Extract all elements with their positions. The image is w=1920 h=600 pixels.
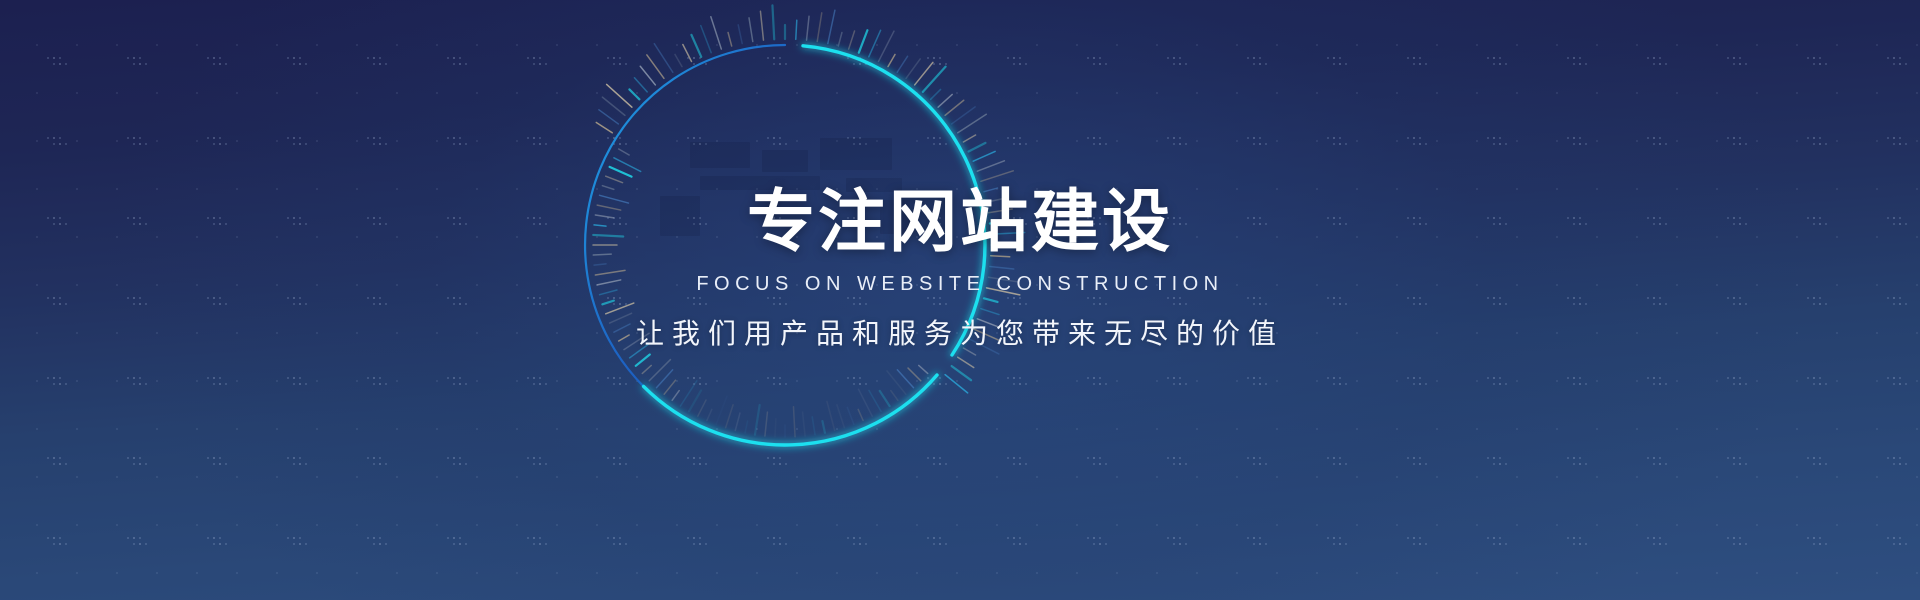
- ring-tick: [822, 421, 825, 433]
- ring-tick: [945, 100, 964, 115]
- ring-tick: [915, 62, 933, 85]
- ring-tick: [755, 405, 760, 435]
- ring-tick: [817, 13, 822, 42]
- ring-tick: [837, 405, 844, 428]
- ring-tick: [683, 45, 692, 62]
- subtitle-chinese: 让我们用产品和服务为您带来无尽的价值: [0, 317, 1920, 351]
- ring-tick: [858, 409, 863, 420]
- hero-banner: 专注网站建设 FOCUS ON WEBSITE CONSTRUCTION 让我们…: [0, 0, 1920, 600]
- ring-tick: [897, 370, 913, 388]
- ring-tick: [749, 18, 753, 42]
- ring-tick: [596, 122, 612, 132]
- ring-tick: [923, 67, 946, 92]
- ring-tick: [698, 400, 706, 416]
- ring-tick: [711, 17, 722, 49]
- ring-tick: [891, 391, 898, 401]
- ring-tick: [647, 55, 664, 78]
- ring-tick: [897, 56, 907, 72]
- ring-tick: [931, 89, 941, 99]
- ring-tick: [847, 407, 853, 424]
- ring-tick: [599, 110, 618, 124]
- ring-tick: [657, 370, 673, 388]
- ring-tick: [735, 413, 740, 430]
- ring-tick: [689, 390, 701, 411]
- ring-tick: [691, 35, 701, 57]
- ring-tick: [827, 401, 835, 430]
- ring-tick: [981, 171, 1013, 182]
- ring-tick: [952, 366, 971, 380]
- ring-tick: [607, 84, 632, 107]
- ring-tick: [726, 405, 733, 428]
- ring-tick: [887, 371, 906, 394]
- ring-tick: [672, 391, 679, 401]
- ring-tick: [606, 176, 623, 182]
- page-title: 专注网站建设: [0, 186, 1920, 260]
- ring-tick: [619, 149, 629, 155]
- ring-tick: [793, 407, 795, 437]
- ring-tick: [859, 30, 868, 52]
- banner-text-block: 专注网站建设 FOCUS ON WEBSITE CONSTRUCTION 让我们…: [0, 186, 1920, 351]
- ring-tick: [869, 30, 881, 56]
- ring-tick: [640, 66, 655, 85]
- ring-tick: [614, 158, 641, 172]
- ring-tick: [938, 94, 952, 107]
- ring-tick: [738, 25, 742, 44]
- ring-tick: [945, 375, 968, 393]
- ring-tick: [796, 20, 797, 39]
- ring-tick: [701, 26, 711, 53]
- ring-tick: [859, 389, 873, 416]
- ring-tick: [869, 390, 881, 411]
- ring-tick: [828, 10, 835, 43]
- ring-tick: [745, 421, 748, 433]
- ring-tick: [602, 97, 625, 115]
- ring-tick: [958, 114, 987, 133]
- ring-tick: [654, 44, 673, 73]
- ring-tick: [906, 59, 920, 78]
- ring-tick: [765, 412, 768, 436]
- ring-tick: [775, 419, 776, 437]
- ring-tick: [680, 381, 696, 406]
- ring-tick: [963, 135, 975, 142]
- subtitle-english: FOCUS ON WEBSITE CONSTRUCTION: [0, 272, 1920, 296]
- ring-tick: [879, 31, 894, 61]
- ring-tick: [642, 365, 651, 373]
- ring-tick: [728, 33, 732, 47]
- ring-tick: [838, 33, 842, 47]
- ring-tick: [969, 143, 986, 152]
- ring-tick: [880, 391, 890, 406]
- ring-arc-accent-bottom: [644, 375, 937, 445]
- ring-tick: [634, 78, 647, 92]
- ring-tick: [803, 412, 806, 436]
- ring-tick: [610, 167, 632, 177]
- ring-tick: [977, 161, 1004, 171]
- ring-tick: [888, 54, 895, 66]
- ring-tick: [807, 16, 810, 40]
- ring-tick: [664, 380, 675, 394]
- ring-tick: [908, 368, 921, 381]
- ring-tick: [649, 360, 670, 381]
- ring-tick: [629, 89, 639, 99]
- ring-tick: [973, 151, 995, 161]
- ring-tick: [636, 355, 650, 366]
- ring-tick: [760, 11, 763, 40]
- ring-tick: [958, 357, 974, 367]
- ring-tick: [952, 107, 975, 124]
- ring-tick: [812, 417, 815, 435]
- ring-tick: [716, 396, 727, 424]
- ring-tick: [707, 409, 712, 420]
- ring-tick: [849, 31, 855, 49]
- ring-tick: [919, 365, 928, 373]
- ring-tick: [772, 5, 774, 39]
- ring-tick: [675, 54, 682, 66]
